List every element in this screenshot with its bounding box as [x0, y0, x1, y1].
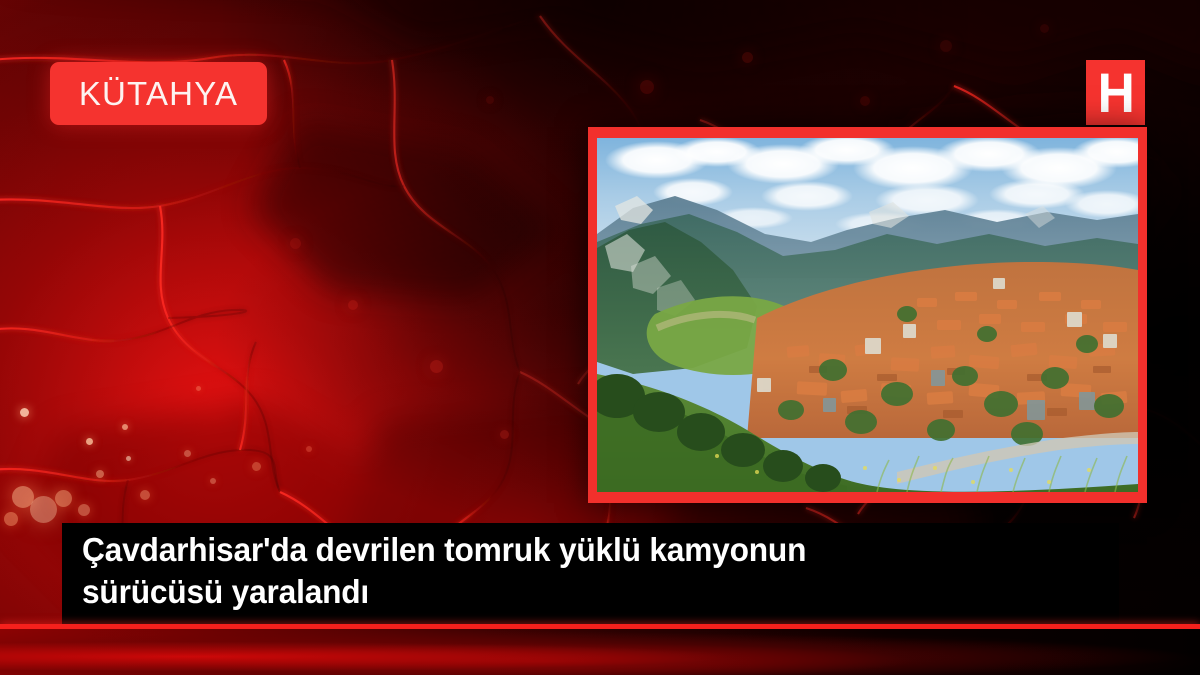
news-photo [597, 138, 1138, 492]
province-badge: KÜTAHYA [50, 62, 267, 125]
photo-frame [588, 127, 1147, 503]
logo-letter: H [1097, 65, 1133, 121]
headline-text: Çavdarhisar'da devrilen tomruk yüklü kam… [82, 529, 1061, 613]
haberler-h-logo-icon: H [1086, 60, 1145, 125]
province-badge-label: KÜTAHYA [79, 77, 238, 110]
news-card: KÜTAHYA H [0, 0, 1200, 675]
bottom-red-band [0, 629, 1200, 675]
